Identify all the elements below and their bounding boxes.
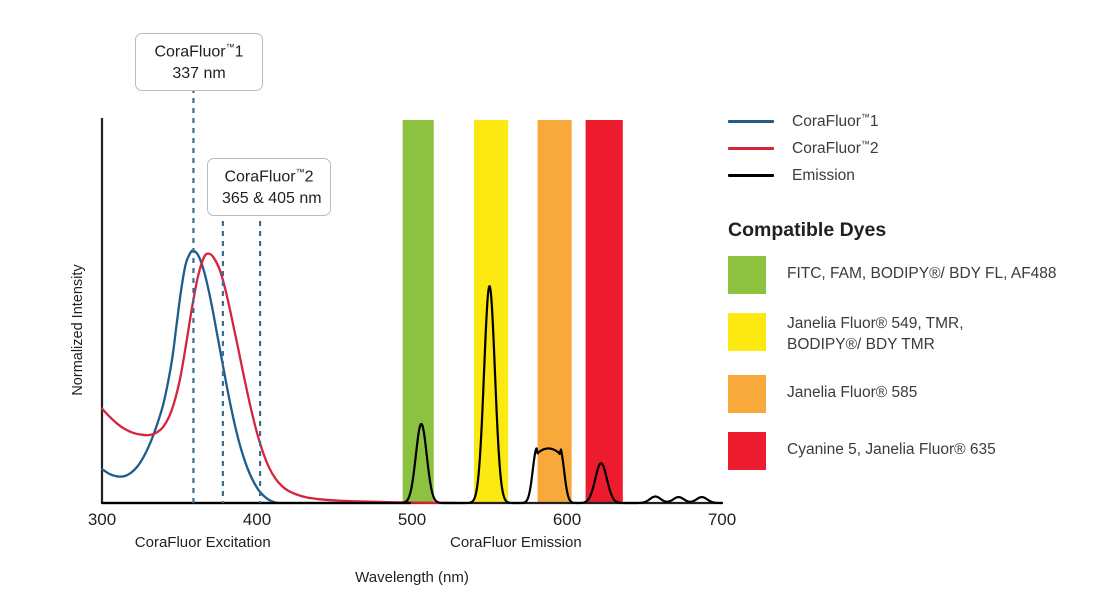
trademark-symbol: ™ [226,42,235,52]
trademark-symbol: ™ [861,139,870,149]
dye-red-label-line-1: Cyanine 5, Janelia Fluor® 635 [787,440,996,461]
dye-orange-label: Janelia Fluor® 585 [787,375,917,404]
dye-green-swatch [728,256,766,294]
dye-green-label-line-1: FITC, FAM, BODIPY®/ BDY FL, AF488 [787,264,1057,285]
dye-green-label: FITC, FAM, BODIPY®/ BDY FL, AF488 [787,256,1057,285]
axis-section-label-1: CoraFluor Emission [450,534,582,551]
series-legend: CoraFluor™1CoraFluor™2Emission [728,108,1100,189]
callout-corafluor2: CoraFluor™2365 & 405 nm [207,158,331,216]
x-tick-label-500: 500 [398,510,426,529]
dye-orange-row: Janelia Fluor® 585 [728,375,1100,413]
legend-emission-label: Emission [792,167,855,185]
orange-band [538,120,572,503]
x-axis-title: Wavelength (nm) [355,569,469,586]
x-tick-label-600: 600 [553,510,581,529]
legend-corafluor2: CoraFluor™2 [728,135,1100,162]
callout-line-2: 365 & 405 nm [222,188,316,210]
dye-orange-swatch [728,375,766,413]
dye-orange-label-line-1: Janelia Fluor® 585 [787,383,917,404]
dye-yellow-row: Janelia Fluor® 549, TMR,BODIPY®/ BDY TMR [728,313,1100,356]
green-band [403,120,434,503]
x-tick-label-400: 400 [243,510,271,529]
axis-section-label-0: CoraFluor Excitation [135,534,271,551]
legend-corafluor1: CoraFluor™1 [728,108,1100,135]
dye-green-row: FITC, FAM, BODIPY®/ BDY FL, AF488 [728,256,1100,294]
legend-corafluor1-swatch [728,120,774,123]
compatible-dyes-title: Compatible Dyes [728,219,1100,242]
x-tick-label-700: 700 [708,510,736,529]
x-tick-label-300: 300 [88,510,116,529]
trademark-symbol: ™ [861,112,870,122]
callout-line-2: 337 nm [150,63,248,85]
callout-corafluor1: CoraFluor™1337 nm [135,33,263,91]
dye-yellow-swatch [728,313,766,351]
red-band [586,120,623,503]
legend-panel: CoraFluor™1CoraFluor™2Emission Compatibl… [728,108,1100,489]
dye-red-row: Cyanine 5, Janelia Fluor® 635 [728,432,1100,470]
compatible-dyes-list: FITC, FAM, BODIPY®/ BDY FL, AF488Janelia… [728,256,1100,470]
callout-line-1: CoraFluor™2 [222,166,316,188]
legend-emission: Emission [728,162,1100,189]
dye-yellow-label: Janelia Fluor® 549, TMR,BODIPY®/ BDY TMR [787,313,964,356]
dye-yellow-label-line-2: BODIPY®/ BDY TMR [787,335,964,356]
spectra-chart: 300400500600700CoraFluor ExcitationCoraF… [0,0,1110,612]
dye-red-label: Cyanine 5, Janelia Fluor® 635 [787,432,996,461]
yellow-band [474,120,508,503]
legend-corafluor2-label: CoraFluor™2 [792,139,879,158]
legend-corafluor2-swatch [728,147,774,150]
legend-corafluor1-label: CoraFluor™1 [792,112,879,131]
dye-red-swatch [728,432,766,470]
callout-line-1: CoraFluor™1 [150,41,248,63]
trademark-symbol: ™ [296,167,305,177]
y-axis-title: Normalized Intensity [70,264,86,396]
dye-yellow-label-line-1: Janelia Fluor® 549, TMR, [787,314,964,335]
excitation-curve-CoraFluor1 [102,251,277,503]
legend-emission-swatch [728,174,774,177]
filter-bands-group [403,120,623,503]
